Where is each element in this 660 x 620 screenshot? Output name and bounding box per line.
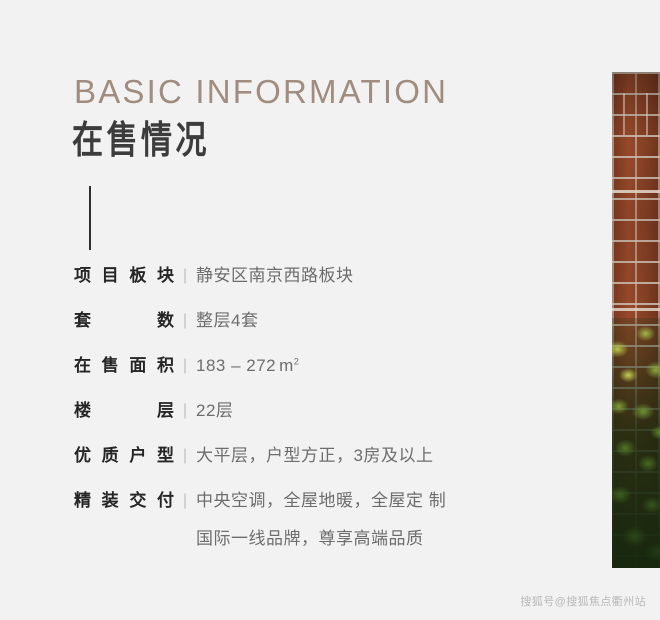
foliage-shrub	[612, 318, 660, 568]
spec-list: 项目板块 | 静安区南京西路板块 套数 | 整层4套 在售面积 | 183 – …	[74, 263, 544, 562]
spec-value-line-2: 国际一线品牌，尊享高端品质	[196, 526, 544, 552]
spec-label: 楼层	[74, 398, 174, 424]
spec-label: 套数	[74, 308, 174, 334]
spec-row-finished-delivery: 精装交付 | 中央空调，全屋地暖，全屋定 制 国际一线品牌，尊享高端品质	[74, 488, 544, 552]
brick-mortar-line	[612, 308, 660, 311]
spec-separator: |	[174, 488, 196, 514]
spec-row-layout-quality: 优质户型 | 大平层，户型方正，3房及以上	[74, 443, 544, 469]
page-root: BASIC INFORMATION 在售情况 项目板块 | 静安区南京西路板块 …	[0, 0, 660, 620]
spec-value-number: 183 – 272	[196, 356, 276, 375]
spec-value-line-1: 中央空调，全屋地暖，全屋定 制	[196, 491, 446, 510]
spec-label: 项目板块	[74, 263, 174, 289]
property-photo	[612, 72, 660, 568]
spec-row-project-block: 项目板块 | 静安区南京西路板块	[74, 263, 544, 289]
spec-separator: |	[174, 353, 196, 379]
spec-value: 大平层，户型方正，3房及以上	[196, 443, 544, 469]
brick-course-offset	[623, 93, 660, 135]
spec-separator: |	[174, 263, 196, 289]
spec-label: 在售面积	[74, 353, 174, 379]
watermark: 搜狐号@搜狐焦点衢州站	[520, 594, 646, 610]
spec-separator: |	[174, 308, 196, 334]
page-title: 在售情况	[72, 117, 210, 165]
spec-row-floor: 楼层 | 22层	[74, 398, 544, 424]
spec-value: 中央空调，全屋地暖，全屋定 制 国际一线品牌，尊享高端品质	[196, 488, 544, 552]
title-vertical-rule	[89, 186, 91, 250]
spec-separator: |	[174, 398, 196, 424]
spec-label: 精装交付	[74, 488, 174, 514]
spec-label: 优质户型	[74, 443, 174, 469]
spec-value: 静安区南京西路板块	[196, 263, 544, 289]
spec-value: 整层4套	[196, 308, 544, 334]
spec-value: 183 – 272m2	[196, 353, 544, 379]
spec-separator: |	[174, 443, 196, 469]
brick-mortar-line	[612, 190, 660, 193]
spec-value-unit: m2	[279, 353, 299, 379]
spec-value: 22层	[196, 398, 544, 424]
spec-row-unit-count: 套数 | 整层4套	[74, 308, 544, 334]
spec-row-area-on-sale: 在售面积 | 183 – 272m2	[74, 353, 544, 379]
page-eyebrow-heading: BASIC INFORMATION	[74, 72, 448, 112]
